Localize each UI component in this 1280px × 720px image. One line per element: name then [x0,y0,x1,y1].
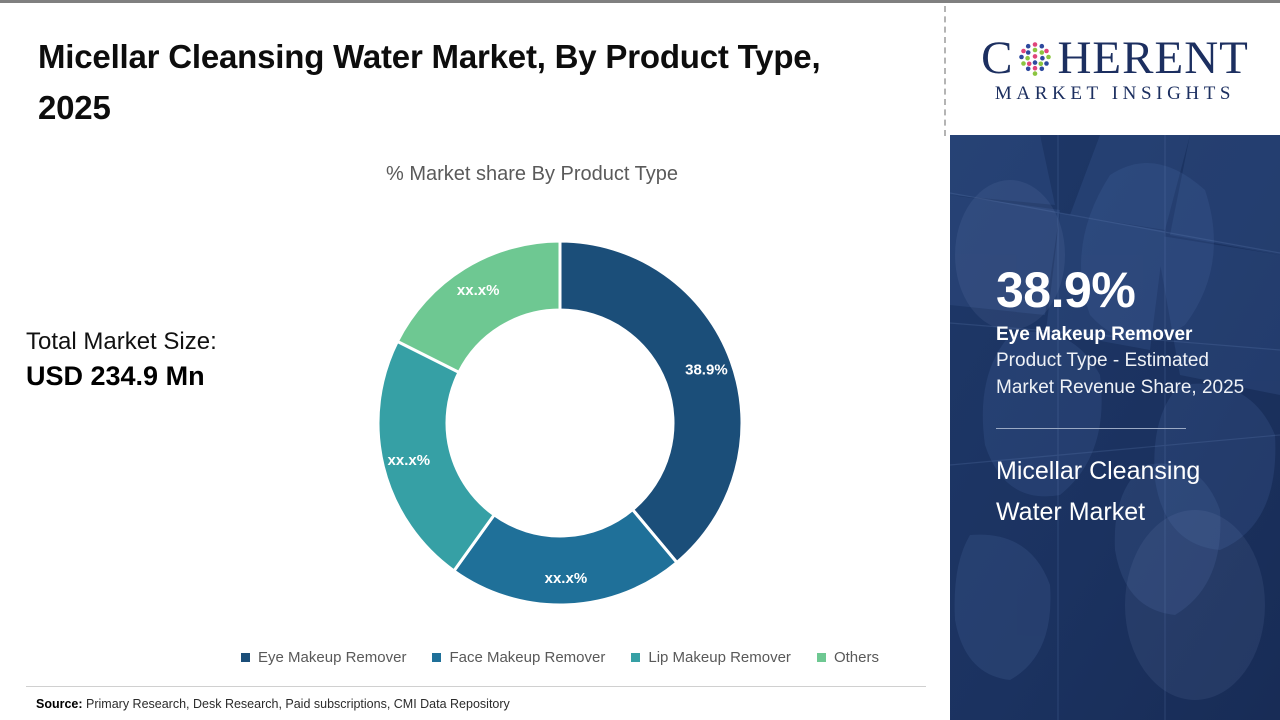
highlight-divider [996,428,1186,430]
left-content-panel: Micellar Cleansing Water Market, By Prod… [0,3,944,720]
donut-slice-label: xx.x% [457,282,500,299]
vertical-dashed-divider [944,6,946,136]
legend-item[interactable]: Others [817,649,879,666]
total-market-size-label: Total Market Size: [26,325,336,358]
total-market-size-value: USD 234.9 Mn [26,358,336,395]
highlight-description: Product Type - Estimated Market Revenue … [996,348,1254,402]
infographic-page: Micellar Cleansing Water Market, By Prod… [0,0,1280,720]
legend-label: Lip Makeup Remover [648,649,791,666]
legend-label: Eye Makeup Remover [258,649,406,666]
donut-slice-group [378,241,742,605]
chart-legend: Eye Makeup RemoverFace Makeup RemoverLip… [180,649,940,666]
legend-item[interactable]: Face Makeup Remover [432,649,605,666]
highlight-segment-name: Eye Makeup Remover [996,323,1254,347]
source-text: Primary Research, Desk Research, Paid su… [83,697,510,711]
donut-slice[interactable] [560,241,742,563]
legend-swatch-icon [631,653,640,662]
logo-letter-c: C [981,35,1013,82]
legend-item[interactable]: Eye Makeup Remover [241,649,406,666]
source-prefix: Source: [36,697,83,711]
globe-dots-icon [1014,38,1056,80]
highlight-market-name: Micellar Cleansing Water Market [996,451,1254,532]
source-note: Source: Primary Research, Desk Research,… [36,697,510,711]
brand-logo[interactable]: C [950,3,1280,135]
legend-label: Face Makeup Remover [449,649,605,666]
donut-slice-label: xx.x% [545,570,588,587]
chart-subtitle: % Market share By Product Type [386,163,746,186]
highlight-percent: 38.9% [996,265,1254,316]
legend-swatch-icon [432,653,441,662]
page-title: Micellar Cleansing Water Market, By Prod… [38,31,868,134]
highlight-panel: 38.9% Eye Makeup Remover Product Type - … [950,135,1280,720]
legend-item[interactable]: Lip Makeup Remover [631,649,791,666]
donut-slice[interactable] [397,241,560,372]
donut-slice-label: xx.x% [388,452,431,469]
total-market-size: Total Market Size: USD 234.9 Mn [26,325,336,395]
highlight-content: 38.9% Eye Makeup Remover Product Type - … [996,265,1254,532]
donut-chart-svg: 38.9%xx.x%xx.x%xx.x% [368,231,752,615]
legend-swatch-icon [817,653,826,662]
donut-chart: 38.9%xx.x%xx.x%xx.x% [368,231,752,615]
legend-swatch-icon [241,653,250,662]
legend-label: Others [834,649,879,666]
donut-slice-label: 38.9% [685,361,728,378]
logo-letters-herent: HERENT [1057,35,1248,82]
right-sidebar: C [950,3,1280,720]
logo-wordmark: C [981,35,1249,82]
logo-tagline: MARKET INSIGHTS [995,84,1235,103]
source-divider [26,686,926,687]
